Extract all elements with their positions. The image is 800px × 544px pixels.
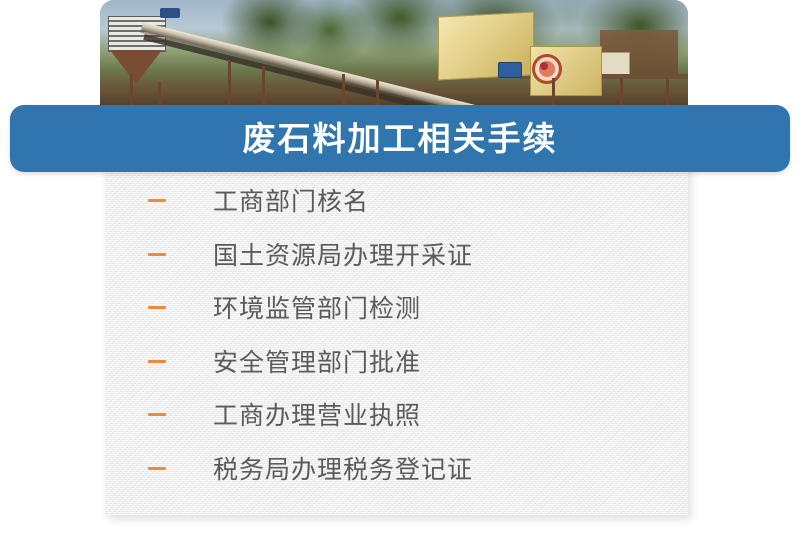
procedures-card: 工商部门核名 国土资源局办理开采证 环境监管部门检测 安全管理部门批准 工商办理… [105,112,688,515]
dash-bullet-icon [148,413,166,416]
title-banner: 废石料加工相关手续 [10,105,790,172]
list-item: 安全管理部门批准 [105,334,688,388]
dash-bullet-icon [148,253,166,256]
procedures-list: 工商部门核名 国土资源局办理开采证 环境监管部门检测 安全管理部门批准 工商办理… [105,112,688,515]
dash-bullet-icon [148,199,166,202]
dash-bullet-icon [148,306,166,309]
photo-motor-icon [160,8,180,18]
list-item-label: 环境监管部门检测 [213,289,421,325]
list-item-label: 工商办理营业执照 [213,396,421,432]
list-item: 工商部门核名 [105,173,688,227]
list-item-label: 工商部门核名 [213,182,369,218]
dash-bullet-icon [148,467,166,470]
list-item: 环境监管部门检测 [105,280,688,334]
photo-hopper-base-icon [110,50,162,84]
photo-flywheel-hub-icon [540,62,548,70]
list-item: 国土资源局办理开采证 [105,227,688,281]
quarry-photo [100,0,688,112]
photo-drive-motor-icon [498,62,522,78]
quarry-photo-scene [100,0,688,112]
page-title: 废石料加工相关手续 [243,122,558,155]
photo-flywheel-icon [532,54,562,84]
list-item-label: 税务局办理税务登记证 [213,450,473,486]
list-item: 工商办理营业执照 [105,387,688,441]
list-item: 税务局办理税务登记证 [105,441,688,495]
infographic-root: 工商部门核名 国土资源局办理开采证 环境监管部门检测 安全管理部门批准 工商办理… [0,0,800,544]
dash-bullet-icon [148,360,166,363]
list-item-label: 安全管理部门批准 [213,343,421,379]
list-item-label: 国土资源局办理开采证 [213,236,473,272]
